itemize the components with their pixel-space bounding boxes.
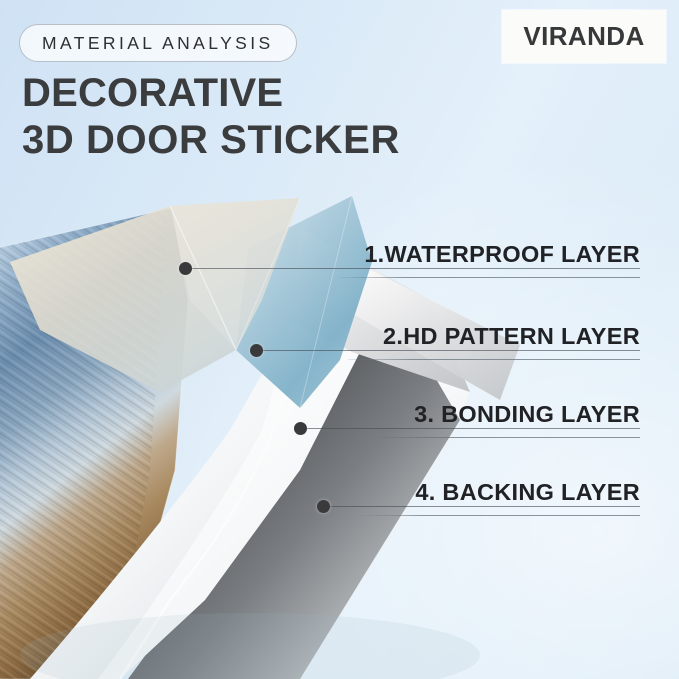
poster-canvas: 1.WATERPROOF LAYER 2.HD PATTERN LAYER 3.…	[0, 0, 679, 679]
callout-rule-2	[348, 359, 640, 360]
callout-label-2: 2.HD PATTERN LAYER	[383, 323, 640, 350]
material-analysis-badge: MATERIAL ANALYSIS	[19, 24, 297, 62]
callout-rule-3	[358, 437, 640, 438]
page-title: DECORATIVE 3D DOOR STICKER	[22, 70, 400, 164]
callout-rule-1	[340, 277, 640, 278]
marker-dot-3	[294, 422, 307, 435]
leader-line-4	[330, 506, 640, 507]
brand-logo: VIRANDA	[502, 10, 666, 63]
marker-dot-1	[179, 262, 192, 275]
brand-name: VIRANDA	[523, 21, 644, 52]
callout-label-3: 3. BONDING LAYER	[414, 401, 640, 428]
leader-line-3	[307, 428, 640, 429]
callout-label-1: 1.WATERPROOF LAYER	[364, 241, 640, 268]
callout-label-4: 4. BACKING LAYER	[415, 479, 640, 506]
marker-dot-4	[317, 500, 330, 513]
leader-line-1	[192, 268, 640, 269]
marker-dot-2	[250, 344, 263, 357]
page-title-line-2: 3D DOOR STICKER	[22, 117, 400, 164]
callout-rule-4	[360, 515, 640, 516]
leader-line-2	[263, 350, 640, 351]
page-title-line-1: DECORATIVE	[22, 70, 400, 117]
